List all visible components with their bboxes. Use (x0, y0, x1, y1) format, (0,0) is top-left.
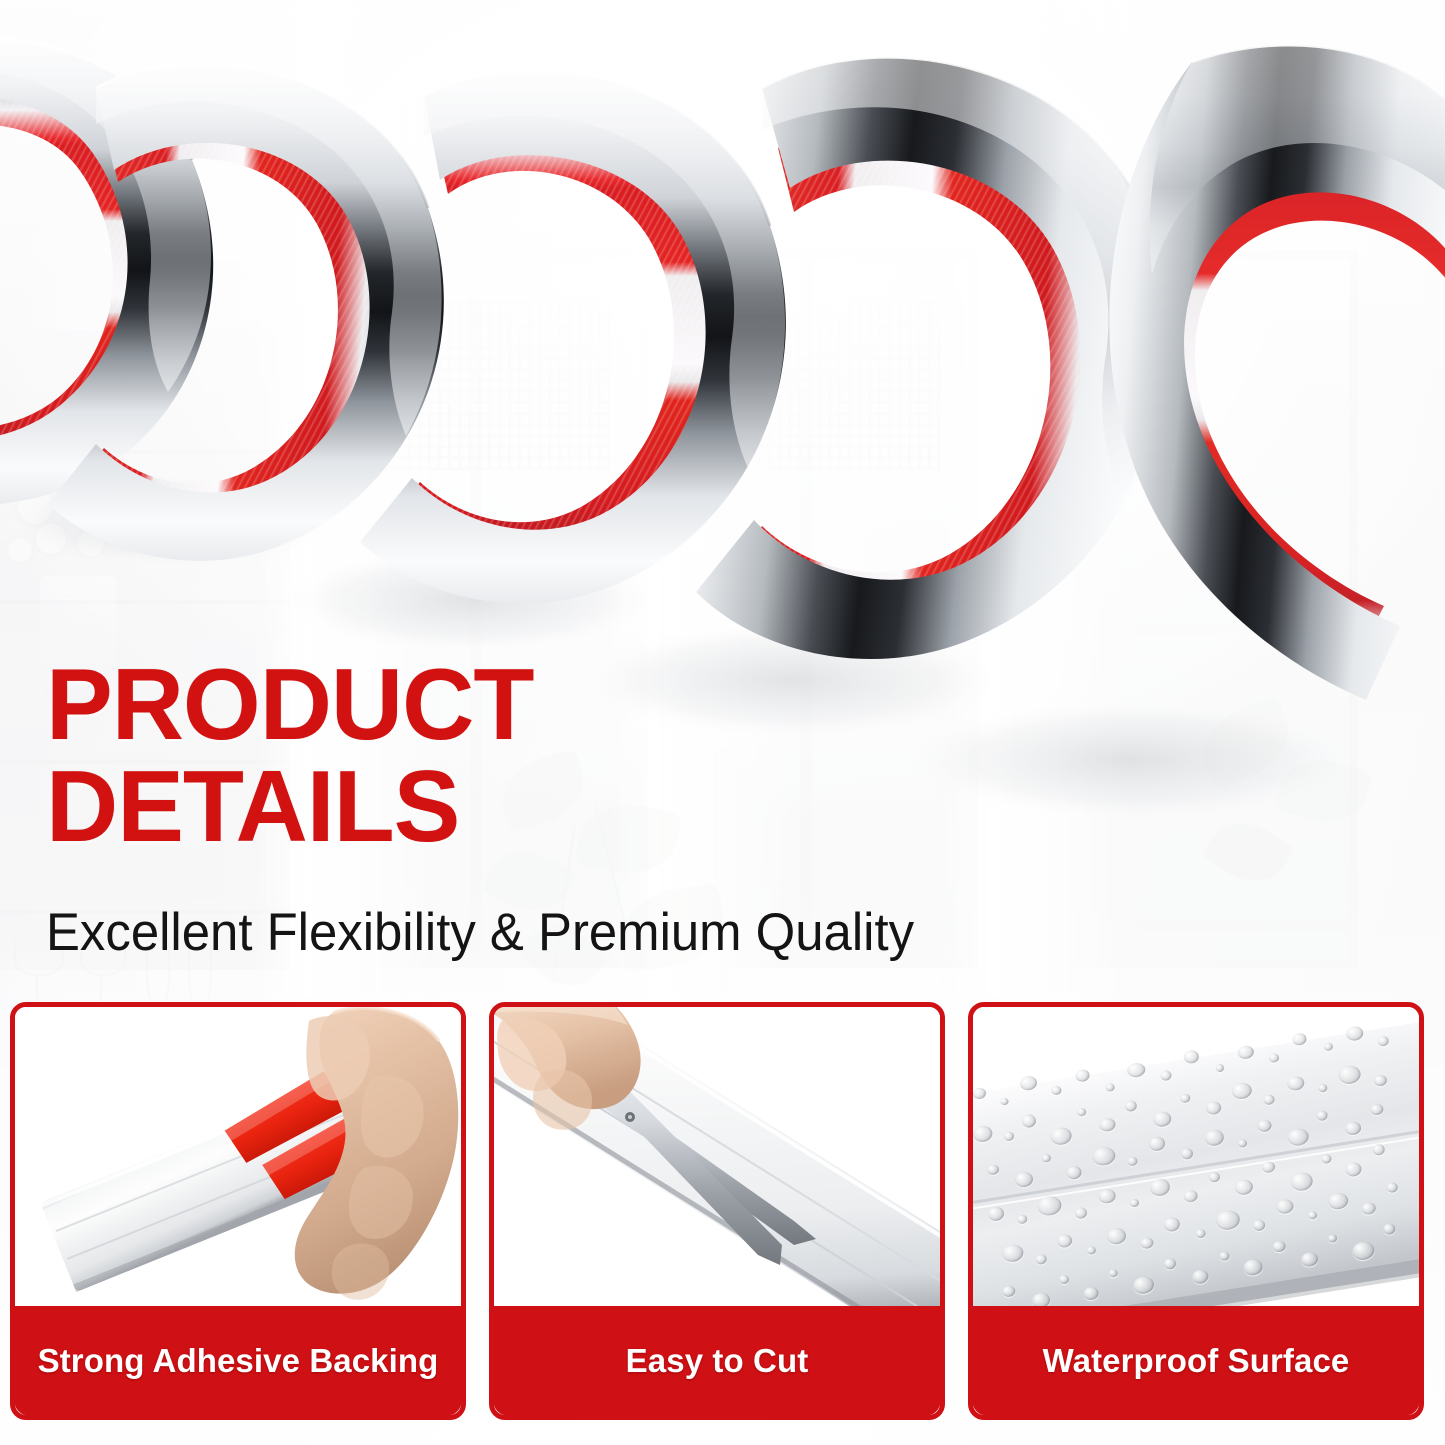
feature-caption-label: Strong Adhesive Backing (38, 1342, 439, 1380)
feature-panel-waterproof-surface[interactable]: Waterproof Surface (968, 1002, 1424, 1420)
feature-panel-frame: Waterproof Surface (968, 1002, 1424, 1420)
feature-panel-strong-adhesive-backing[interactable]: Strong Adhesive Backing (10, 1002, 466, 1420)
page-title: PRODUCT DETAILS (46, 654, 538, 858)
page-subtitle: Excellent Flexibility & Premium Quality (46, 903, 914, 963)
spiral-coil-5 (1109, 45, 1445, 700)
spiral-coil-2 (48, 63, 444, 561)
feature-photo-easy-to-cut (494, 1007, 940, 1325)
feature-caption-easy-to-cut: Easy to Cut (493, 1306, 941, 1416)
page-title-line-2: DETAILS (46, 756, 533, 858)
feature-photo-waterproof-surface (973, 1007, 1419, 1325)
feature-panel-frame: Strong Adhesive Backing (10, 1002, 466, 1420)
feature-caption-label: Waterproof Surface (1043, 1342, 1350, 1380)
page-title-line-1: PRODUCT (46, 654, 533, 756)
feature-panel-frame: Easy to Cut (489, 1002, 945, 1420)
feature-panel-group: Strong Adhesive Backing (0, 1002, 1445, 1422)
feature-panel-easy-to-cut[interactable]: Easy to Cut (489, 1002, 945, 1420)
feature-caption-strong-adhesive-backing: Strong Adhesive Backing (14, 1306, 462, 1416)
water-droplet-field (973, 1007, 1419, 1325)
feature-photo-strong-adhesive-backing (15, 1007, 461, 1325)
feature-caption-waterproof-surface: Waterproof Surface (972, 1306, 1420, 1416)
feature-caption-label: Easy to Cut (626, 1342, 809, 1380)
product-detail-image: PRODUCT DETAILS Excellent Flexibility & … (0, 0, 1445, 1445)
